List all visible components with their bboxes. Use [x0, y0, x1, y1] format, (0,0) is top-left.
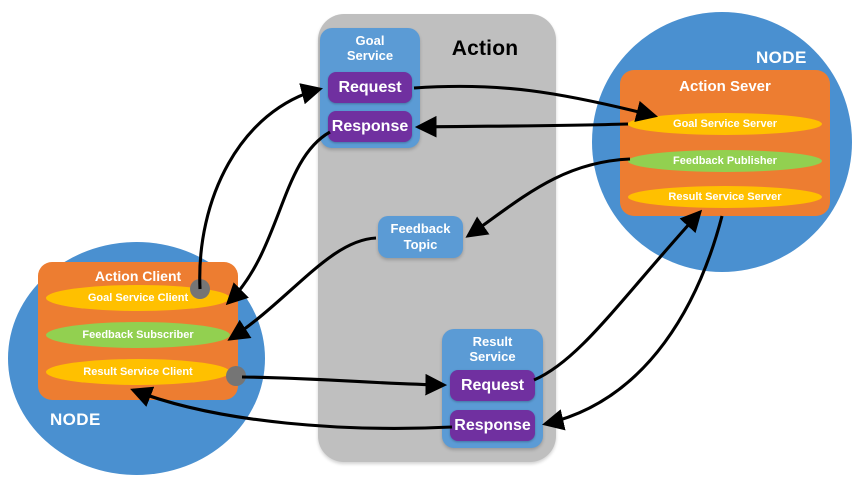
result-service-server-pill[interactable]: Result Service Server [628, 186, 822, 208]
feedback-publisher-label: Feedback Publisher [673, 155, 777, 167]
feedback-publisher-pill[interactable]: Feedback Publisher [628, 150, 822, 172]
result-client-connector-dot [226, 366, 246, 386]
diagram-canvas: Action NODE Action Client Goal Service C… [0, 0, 854, 480]
nodes-layer: NODE Action Client Goal Service Client F… [0, 0, 854, 480]
goal-service-server-label: Goal Service Server [673, 118, 777, 130]
result-service-client-pill[interactable]: Result Service Client [46, 359, 230, 385]
feedback-subscriber-pill[interactable]: Feedback Subscriber [46, 322, 230, 348]
feedback-subscriber-label: Feedback Subscriber [82, 329, 193, 341]
client-node-label: NODE [50, 410, 101, 430]
action-server-title: Action Sever [620, 78, 830, 95]
goal-client-connector-dot [190, 279, 210, 299]
goal-service-client-label: Goal Service Client [88, 292, 188, 304]
result-service-client-label: Result Service Client [83, 366, 192, 378]
result-service-server-label: Result Service Server [668, 191, 781, 203]
goal-service-server-pill[interactable]: Goal Service Server [628, 113, 822, 135]
action-client-title: Action Client [38, 268, 238, 284]
server-node-label: NODE [756, 48, 807, 68]
